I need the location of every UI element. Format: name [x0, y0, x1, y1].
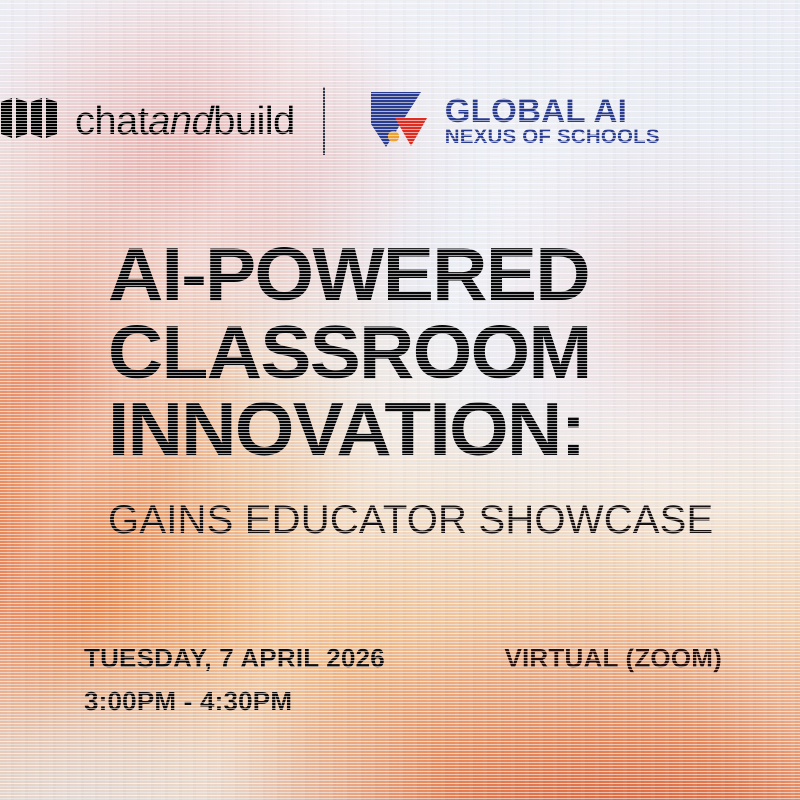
wordmark-and: and: [148, 99, 213, 143]
event-location: VIRTUAL (ZOOM): [504, 645, 722, 671]
global-ai-title: GLOBAL AI: [445, 92, 627, 129]
chatandbuild-logo[interactable]: chatandbuild: [0, 96, 323, 145]
global-ai-subtitle: NEXUS OF SCHOOLS: [445, 125, 660, 148]
wordmark-build: build: [213, 99, 295, 143]
chatandbuild-wordmark: chatandbuild: [75, 101, 295, 141]
event-datetime: TUESDAY, 7 APRIL 2026 3:00PM - 4:30PM: [84, 645, 385, 714]
event-poster: chatandbuild GLOBAL AI NEXUS OF SCHOOLS: [0, 0, 800, 800]
logo-divider: [323, 87, 325, 155]
global-ai-logo[interactable]: GLOBAL AI NEXUS OF SCHOOLS: [325, 86, 800, 155]
wordmark-chat: chat: [75, 99, 148, 143]
logo-row: chatandbuild GLOBAL AI NEXUS OF SCHOOLS: [0, 86, 800, 155]
event-subtitle: GAINS EDUCATOR SHOWCASE: [108, 500, 713, 540]
event-date: TUESDAY, 7 APRIL 2026: [84, 645, 385, 671]
headline: AI-POWERED CLASSROOM INNOVATION:: [108, 238, 768, 471]
global-ai-chevron-triangle-mark-icon: [365, 86, 429, 155]
event-time: 3:00PM - 4:30PM: [84, 688, 385, 714]
headline-line-2: CLASSROOM: [108, 316, 781, 390]
headline-line-3: INNOVATION:: [108, 393, 781, 467]
headline-line-1: AI-POWERED: [108, 238, 781, 312]
chatandbuild-pages-mark-icon: [0, 96, 58, 145]
event-details: TUESDAY, 7 APRIL 2026 3:00PM - 4:30PM VI…: [84, 645, 740, 714]
global-ai-wordmark: GLOBAL AI NEXUS OF SCHOOLS: [445, 94, 800, 148]
